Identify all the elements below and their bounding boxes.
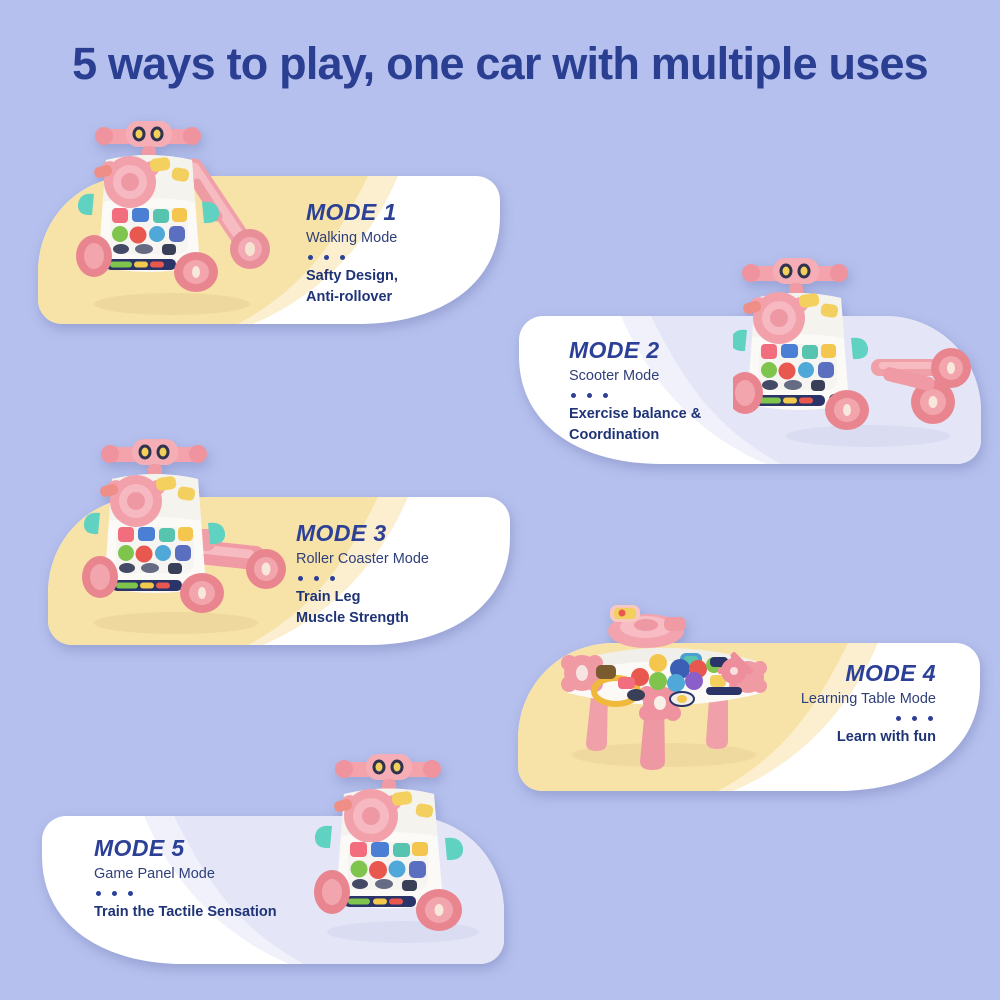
separator-dot-icon xyxy=(896,716,901,721)
separator-dot-icon xyxy=(330,576,335,581)
mode-5-dot-separator xyxy=(96,891,277,896)
mode-card-1[interactable]: MODE 1 Walking Mode Safty Design, Anti-r… xyxy=(38,176,500,324)
mode-1-feature-line-1: Safty Design, xyxy=(306,266,398,287)
mode-3-text-block: MODE 3 Roller Coaster Mode Train Leg Mus… xyxy=(296,521,429,629)
mode-1-dot-separator xyxy=(308,255,398,260)
mode-2-heading: MODE 2 xyxy=(569,338,701,364)
separator-dot-icon xyxy=(96,891,101,896)
mode-4-heading: MODE 4 xyxy=(801,661,936,687)
separator-dot-icon xyxy=(571,393,576,398)
mode-1-text-block: MODE 1 Walking Mode Safty Design, Anti-r… xyxy=(306,200,398,308)
mode-2-subtitle: Scooter Mode xyxy=(569,367,701,386)
separator-dot-icon xyxy=(314,576,319,581)
separator-dot-icon xyxy=(928,716,933,721)
mode-card-5[interactable]: MODE 5 Game Panel Mode Train the Tactile… xyxy=(42,816,504,964)
mode-card-1-shape xyxy=(38,176,500,324)
mode-card-3[interactable]: MODE 3 Roller Coaster Mode Train Leg Mus… xyxy=(48,497,510,645)
mode-4-text-block: MODE 4 Learning Table Mode Learn with fu… xyxy=(801,661,936,748)
separator-dot-icon xyxy=(112,891,117,896)
mode-4-feature-line-1: Learn with fun xyxy=(801,727,936,748)
mode-4-dot-separator xyxy=(803,716,933,721)
mode-3-feature-line-2: Muscle Strength xyxy=(296,608,429,629)
separator-dot-icon xyxy=(324,255,329,260)
mode-5-subtitle: Game Panel Mode xyxy=(94,865,277,884)
separator-dot-icon xyxy=(128,891,133,896)
mode-5-heading: MODE 5 xyxy=(94,836,277,862)
mode-3-dot-separator xyxy=(298,576,429,581)
mode-card-2[interactable]: MODE 2 Scooter Mode Exercise balance & C… xyxy=(519,316,981,464)
mode-1-subtitle: Walking Mode xyxy=(306,229,398,248)
mode-2-dot-separator xyxy=(571,393,701,398)
mode-3-heading: MODE 3 xyxy=(296,521,429,547)
mode-1-heading: MODE 1 xyxy=(306,200,398,226)
separator-dot-icon xyxy=(298,576,303,581)
mode-4-subtitle: Learning Table Mode xyxy=(801,690,936,709)
separator-dot-icon xyxy=(912,716,917,721)
page-title: 5 ways to play, one car with multiple us… xyxy=(0,38,1000,90)
mode-1-feature-line-2: Anti-rollover xyxy=(306,287,398,308)
mode-5-feature-line-1: Train the Tactile Sensation xyxy=(94,902,277,923)
mode-2-feature-line-1: Exercise balance & xyxy=(569,404,701,425)
separator-dot-icon xyxy=(340,255,345,260)
mode-2-text-block: MODE 2 Scooter Mode Exercise balance & C… xyxy=(569,338,701,446)
mode-3-feature-line-1: Train Leg xyxy=(296,587,429,608)
mode-2-feature-line-2: Coordination xyxy=(569,425,701,446)
mode-3-subtitle: Roller Coaster Mode xyxy=(296,550,429,569)
separator-dot-icon xyxy=(603,393,608,398)
mode-card-4[interactable]: MODE 4 Learning Table Mode Learn with fu… xyxy=(518,643,980,791)
mode-card-3-shape xyxy=(48,497,510,645)
separator-dot-icon xyxy=(308,255,313,260)
separator-dot-icon xyxy=(587,393,592,398)
mode-5-text-block: MODE 5 Game Panel Mode Train the Tactile… xyxy=(94,836,277,923)
